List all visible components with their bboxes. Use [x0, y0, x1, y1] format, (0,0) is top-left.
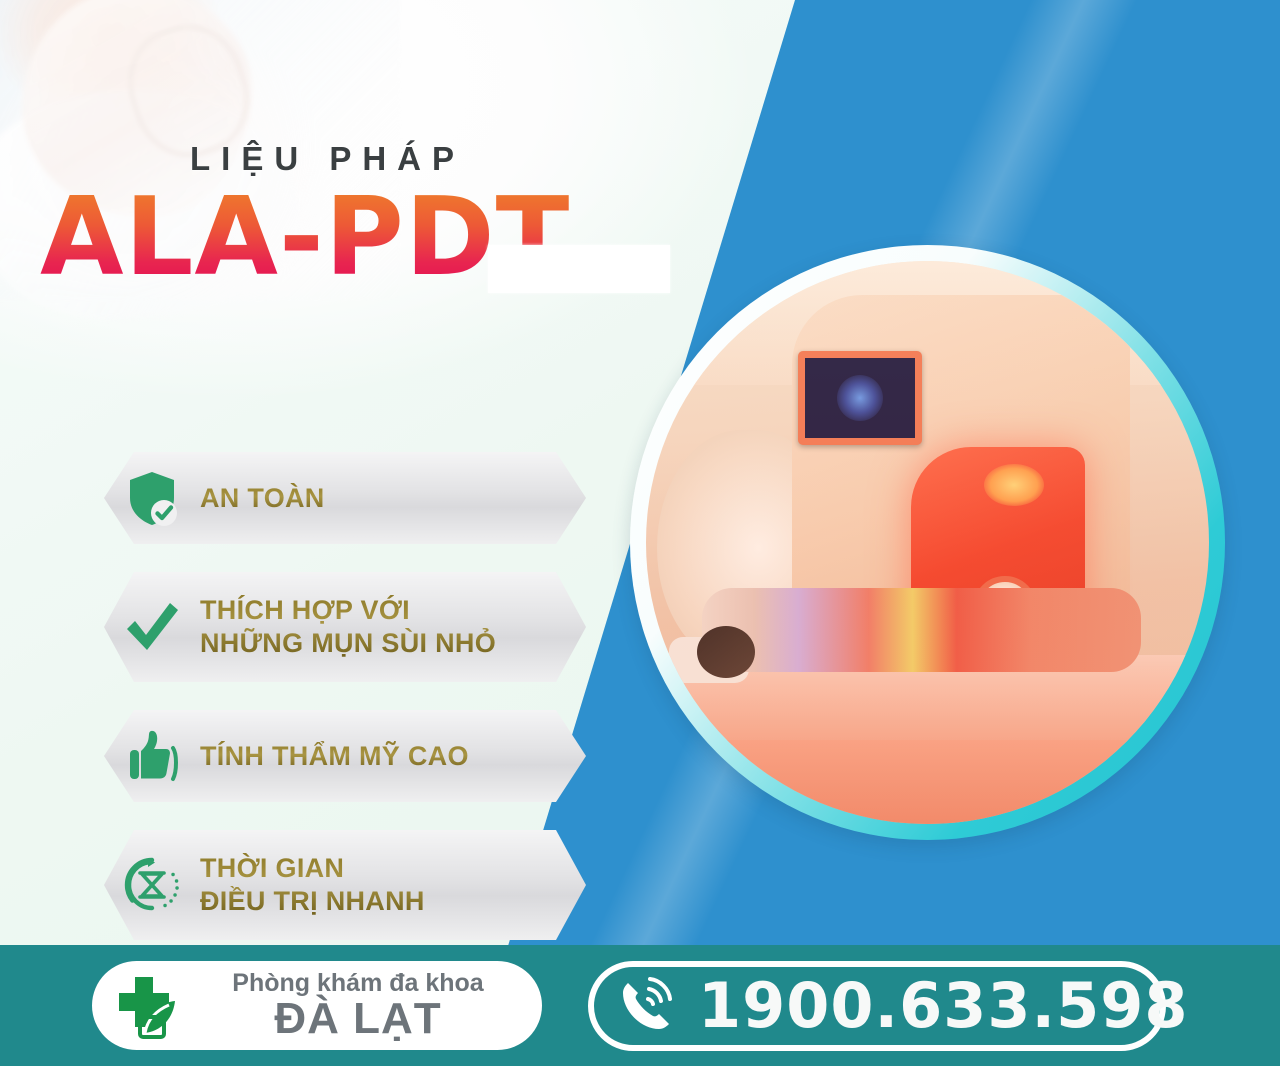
check-mark-icon	[104, 599, 200, 655]
headline-block: LIỆU PHÁP ALA-PDT	[40, 140, 700, 292]
feature-label-line1: THỜI GIAN	[200, 853, 344, 883]
phone-call-icon	[594, 973, 698, 1039]
feature-item-fast-treatment[interactable]: THỜI GIAN ĐIỀU TRỊ NHANH	[104, 830, 586, 940]
footer-bar: Phòng khám đa khoa ĐÀ LẠT 1900.633.598	[0, 945, 1280, 1066]
feature-label: THỜI GIAN ĐIỀU TRỊ NHANH	[200, 852, 443, 918]
thumbs-up-icon	[104, 729, 200, 783]
feature-item-safety[interactable]: AN TOÀN	[104, 452, 586, 544]
clinic-name-block: Phòng khám đa khoa ĐÀ LẠT	[200, 970, 542, 1040]
feature-label-line1: AN TOÀN	[200, 483, 325, 513]
feature-item-suitable-small-warts[interactable]: THÍCH HỢP VỚI NHỮNG MỤN SÙI NHỎ	[104, 572, 586, 682]
feature-label: THÍCH HỢP VỚI NHỮNG MỤN SÙI NHỎ	[200, 594, 514, 660]
clinic-name: ĐÀ LẠT	[274, 997, 441, 1041]
hotline-button[interactable]: 1900.633.598	[588, 961, 1166, 1051]
hotline-number: 1900.633.598	[698, 969, 1189, 1042]
feature-item-aesthetics[interactable]: TÍNH THẨM MỸ CAO	[104, 710, 586, 802]
feature-label-line2: ĐIỀU TRỊ NHANH	[200, 885, 425, 918]
feature-label-line1: TÍNH THẨM MỸ CAO	[200, 741, 469, 771]
photo-color-cast	[646, 261, 1209, 824]
feature-label-line2: NHỮNG MỤN SÙI NHỎ	[200, 627, 496, 660]
ala-pdt-promo-banner: LIỆU PHÁP ALA-PDT AN TOÀN	[0, 0, 1280, 1066]
treatment-photo-ring	[630, 245, 1225, 840]
white-mask-box	[488, 245, 670, 293]
feature-label: TÍNH THẨM MỸ CAO	[200, 740, 487, 773]
feature-label-line1: THÍCH HỢP VỚI	[200, 595, 410, 625]
feature-label: AN TOÀN	[200, 482, 343, 515]
clinic-kicker: Phòng khám đa khoa	[232, 970, 483, 996]
shield-check-icon	[104, 469, 200, 527]
treatment-photo	[646, 261, 1209, 824]
clinic-logo-badge[interactable]: Phòng khám đa khoa ĐÀ LẠT	[92, 961, 542, 1050]
headline-kicker: LIỆU PHÁP	[190, 140, 700, 178]
hourglass-clock-icon	[104, 854, 200, 916]
feature-list: AN TOÀN THÍCH HỢP VỚI NHỮNG MỤN SÙI NHỎ	[104, 452, 594, 968]
medical-cross-leaf-icon	[92, 971, 200, 1041]
